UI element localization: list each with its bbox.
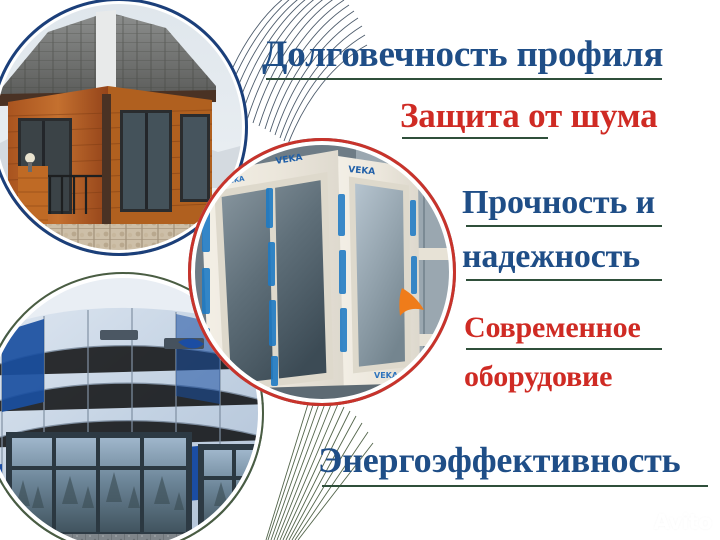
headline-durability: Долговечность профиля — [262, 36, 663, 73]
pvc-windows-illustration: VEKA VEKA VEKA VEKA VEKA — [188, 138, 456, 406]
headline-reliability: надежность — [462, 240, 640, 274]
avito-watermark: Avito — [627, 510, 712, 534]
headline-equipment: оборудовие — [464, 362, 612, 392]
poster-canvas: VEKA VEKA VEKA VEKA VEKA — [0, 0, 720, 540]
headline-underline-7 — [322, 485, 708, 487]
headline-strength: Прочность и — [462, 186, 655, 220]
headline-underline-3 — [466, 225, 662, 227]
headline-underline-2 — [402, 137, 548, 139]
headline-noise-protection: Защита от шума — [400, 98, 657, 133]
headline-underline-1 — [266, 78, 662, 80]
photo-pvc-windows: VEKA VEKA VEKA VEKA VEKA — [188, 138, 456, 406]
headline-modern: Современное — [464, 313, 641, 343]
headline-underline-4 — [466, 279, 662, 281]
svg-text:VEKA: VEKA — [374, 371, 399, 380]
avito-wordmark: Avito — [654, 510, 712, 534]
headline-energy-efficiency: Энергоэффективность — [318, 442, 680, 478]
headline-underline-5 — [466, 348, 662, 350]
avito-dots-logo-icon — [627, 511, 651, 533]
